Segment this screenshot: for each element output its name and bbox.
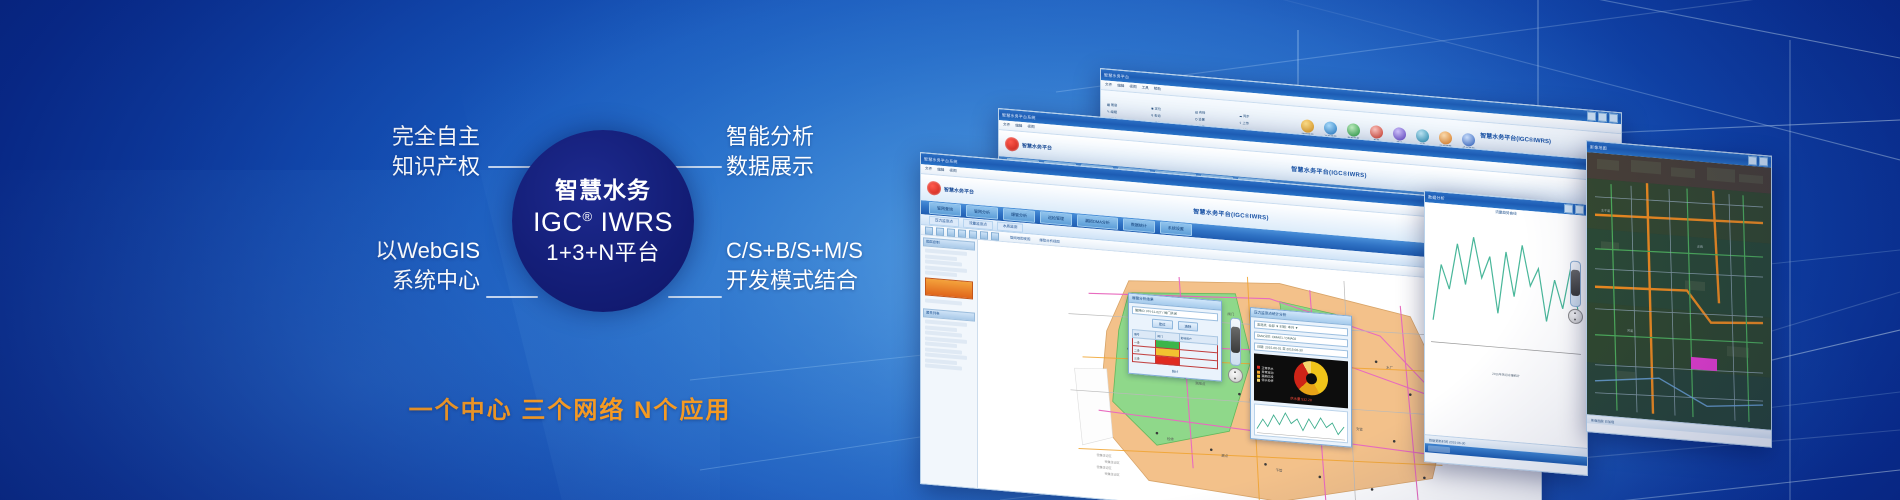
menu-item-edit[interactable]: 编辑 <box>1015 123 1022 129</box>
feature-bottom-left-line2: 系统中心 <box>280 266 480 296</box>
window-back-title: 智慧水务平台 <box>1104 72 1129 80</box>
hub-title: 智慧水务 <box>555 177 651 204</box>
row-level-label: 三级 <box>1133 354 1156 364</box>
minimize-icon[interactable] <box>1587 111 1596 121</box>
menu-item-view[interactable]: 视图 <box>949 168 956 174</box>
window-satellite-content[interactable]: 主干道支路河道 <box>1587 152 1771 430</box>
window-chart[interactable]: 数据分析 流量趋势曲线 2015年各月水量统计 数据更新时间 <box>1424 190 1588 476</box>
menu-item-tools[interactable]: 工具 <box>1142 86 1149 92</box>
window-chart-controls[interactable] <box>1564 204 1584 215</box>
banner-root: 完全自主 知识产权 以WebGIS 系统中心 智能分析 数据展示 C/S+B/S… <box>0 0 1900 500</box>
window-satellite[interactable]: 影像地图 <box>1586 140 1772 448</box>
subnav-item-0[interactable]: 压力监测点 <box>929 215 959 227</box>
hub-product-name: IGC® IWRS <box>533 207 673 239</box>
map-tab-0[interactable]: 管网地图视图 <box>1010 235 1030 242</box>
dialog-burst-body: 管网ID: PN-11-027 / 阀门关闭 定位 清除 编号 阀门 影响用户 <box>1129 303 1221 381</box>
menu-item-file[interactable]: 文件 <box>925 166 932 172</box>
close-icon[interactable] <box>1609 113 1618 123</box>
map-zoom-slider[interactable] <box>1230 317 1241 366</box>
dialog-burst-analysis[interactable]: 爆管分析结果 管网ID: PN-11-027 / 阀门关闭 定位 清除 编号 阀… <box>1128 293 1222 382</box>
feature-top-left-line1: 完全自主 <box>300 122 480 152</box>
dialog-monitor-panel[interactable]: 压力监测点统计分析 监测点: 全部 ▼ 时段: 本月 ▼ DMA分区: DMA0… <box>1250 307 1352 448</box>
feature-top-left-line2: 知识产权 <box>300 152 480 182</box>
chart-slider-knob[interactable] <box>1571 269 1580 296</box>
svg-text:阀门: 阀门 <box>1227 311 1234 317</box>
donut-legend: 正常供水 异常波动 漏损区段 停水检修 <box>1257 365 1274 383</box>
donut-chart-container: 正常供水 异常波动 漏损区段 停水检修 供水量 532.2 <box>1254 353 1348 408</box>
feature-top-left: 完全自主 知识产权 <box>300 122 480 183</box>
hub-circle: 智慧水务 IGC® IWRS 1+3+N平台 <box>512 130 694 312</box>
svg-text:河道: 河道 <box>1627 327 1633 333</box>
layer-panel[interactable]: 图层控制 属性列表 <box>921 235 978 488</box>
dialog-monitor-body: 监测点: 全部 ▼ 时段: 本月 ▼ DMA分区: DMA01 / DMA02 … <box>1251 317 1351 447</box>
legend-ramp <box>925 277 973 299</box>
locate-button[interactable]: 定位 <box>1152 319 1173 330</box>
svg-text:支管: 支管 <box>1356 426 1363 432</box>
screenshot-stack: 智慧水务平台 文件 编辑 视图 工具 帮助 ▦ 图层 ◉ 定位 ▤ 表格 <box>930 0 1900 500</box>
connector-line-top-right <box>672 166 722 168</box>
feature-top-right-line1: 智能分析 <box>726 122 956 152</box>
hub-product-iwrs: IWRS <box>593 207 674 237</box>
open-icon[interactable] <box>925 226 933 235</box>
chart-pan-control[interactable] <box>1568 308 1583 324</box>
layer-row[interactable] <box>925 270 957 277</box>
infographic: 完全自主 知识产权 以WebGIS 系统中心 智能分析 数据展示 C/S+B/S… <box>0 0 1000 500</box>
window-front-title: 智慧水务平台系统 <box>924 156 958 165</box>
window-satellite-controls[interactable] <box>1748 156 1768 167</box>
window-back-app-title: 智慧水务平台(IGC®IWRS) <box>1480 130 1551 145</box>
donut-chart <box>1294 360 1328 397</box>
legend-entry-3: 停水检修 <box>1257 378 1274 384</box>
status-layer: 影像图层 已加载 <box>1591 417 1614 424</box>
svg-text:干管: 干管 <box>1276 467 1283 473</box>
subnav-item-1[interactable]: 流量监测点 <box>963 218 993 230</box>
taskbar-item[interactable] <box>1428 445 1450 453</box>
subnav-item-2[interactable]: 水质监测 <box>997 221 1023 232</box>
hub-product-igc: IGC <box>533 207 583 237</box>
maximize-icon[interactable] <box>1598 112 1607 122</box>
map-pan-control[interactable] <box>1228 367 1243 383</box>
menu-item-edit[interactable]: 编辑 <box>1117 83 1124 89</box>
tagline: 一个中心 三个网络 N个应用 <box>360 390 780 425</box>
taskbar-item[interactable] <box>949 496 971 500</box>
window-chart-title: 数据分析 <box>1428 194 1445 201</box>
close-icon[interactable] <box>1759 157 1768 167</box>
svg-text:支路: 支路 <box>1697 243 1703 249</box>
connector-line-bottom-left <box>486 296 538 298</box>
zoom-slider-knob[interactable] <box>1231 326 1240 353</box>
menu-item-file[interactable]: 文件 <box>1003 122 1010 128</box>
pan-icon[interactable] <box>980 231 988 240</box>
menu-item-help[interactable]: 帮助 <box>1154 87 1161 93</box>
dialog-burst-table: 编号 阀门 影响用户 一级 二级 <box>1132 329 1218 369</box>
level-swatch-red <box>1156 356 1179 366</box>
status-coords: 坐标 X:118.7 Y:32.0 <box>951 488 979 495</box>
map-tab-1[interactable]: 爆管分析视图 <box>1039 237 1059 244</box>
satellite-imagery: 主干道支路河道 <box>1587 152 1771 430</box>
svg-text:主干道: 主干道 <box>1601 207 1610 213</box>
close-icon[interactable] <box>1575 205 1584 215</box>
layer-row[interactable] <box>925 298 962 305</box>
zoom-out-icon[interactable] <box>969 230 977 239</box>
clear-button[interactable]: 清除 <box>1178 321 1199 332</box>
hub-platform: 1+3+N平台 <box>546 240 660 266</box>
svg-text:检修: 检修 <box>1167 436 1174 442</box>
feature-bottom-left-line1: 以WebGIS <box>280 236 480 266</box>
menu-item-view[interactable]: 视图 <box>1129 84 1136 90</box>
menu-item-edit[interactable]: 编辑 <box>937 167 944 173</box>
mini-line-chart <box>1254 403 1348 443</box>
minimize-icon[interactable] <box>1748 156 1757 166</box>
minimize-icon[interactable] <box>1564 204 1573 214</box>
select-icon[interactable] <box>991 232 999 241</box>
svg-text:漏点: 漏点 <box>1221 453 1228 459</box>
svg-text:测压点: 测压点 <box>1195 380 1206 386</box>
connector-line-bottom-right <box>668 296 722 298</box>
line-chart <box>1425 211 1587 375</box>
svg-text:水厂: 水厂 <box>1386 365 1393 371</box>
save-icon[interactable] <box>936 227 944 236</box>
print-icon[interactable] <box>947 228 955 237</box>
menu-item-view[interactable]: 视图 <box>1027 124 1034 130</box>
window-chart-content: 流量趋势曲线 2015年各月水量统计 <box>1425 202 1587 448</box>
chart-zoom-slider[interactable] <box>1570 260 1581 307</box>
window-middle-title: 智慧水务平台系统 <box>1002 112 1036 121</box>
menu-item-file[interactable]: 文件 <box>1105 82 1112 88</box>
zoom-in-icon[interactable] <box>958 229 966 238</box>
window-satellite-title: 影像地图 <box>1590 144 1607 151</box>
registered-mark-icon: ® <box>582 209 592 224</box>
status-ready: 就绪 <box>985 491 991 497</box>
feature-bottom-left: 以WebGIS 系统中心 <box>280 236 480 297</box>
